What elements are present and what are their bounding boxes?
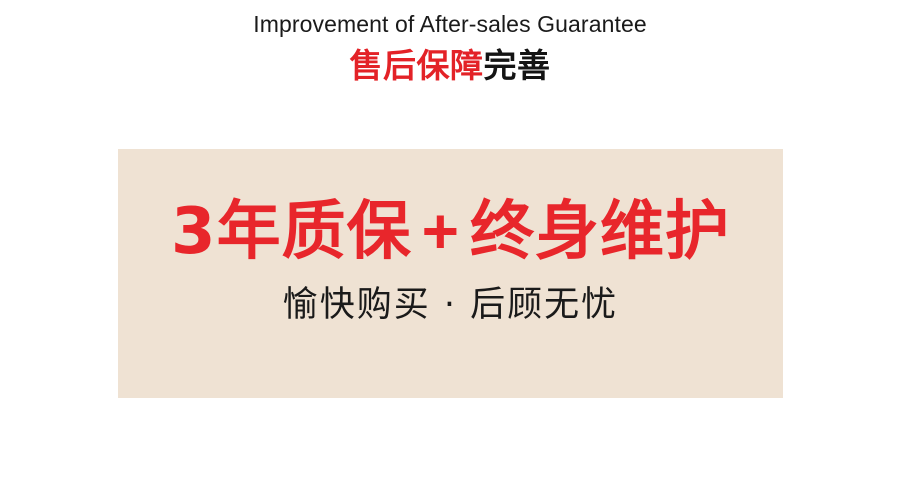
page-title-chinese: 售后保障完善 — [0, 38, 900, 86]
guarantee-banner-title: 3年质保+终身维护 — [171, 194, 730, 269]
page-title-chinese-accent: 售后保障 — [350, 46, 484, 85]
guarantee-banner-subtitle: 愉快购买 · 后顾无忧 — [283, 283, 618, 327]
lifetime-maintenance-label: 终身维护 — [470, 195, 730, 269]
header-block: Improvement of After-sales Guarantee 售后保… — [0, 0, 900, 86]
plus-symbol: + — [412, 195, 470, 267]
page-title-english: Improvement of After-sales Guarantee — [0, 0, 900, 38]
page-title-chinese-plain: 完善 — [484, 46, 551, 85]
warranty-years-label: 3年质保 — [171, 195, 412, 269]
guarantee-banner: 3年质保+终身维护 愉快购买 · 后顾无忧 — [118, 149, 783, 398]
promo-page: Improvement of After-sales Guarantee 售后保… — [0, 0, 900, 478]
